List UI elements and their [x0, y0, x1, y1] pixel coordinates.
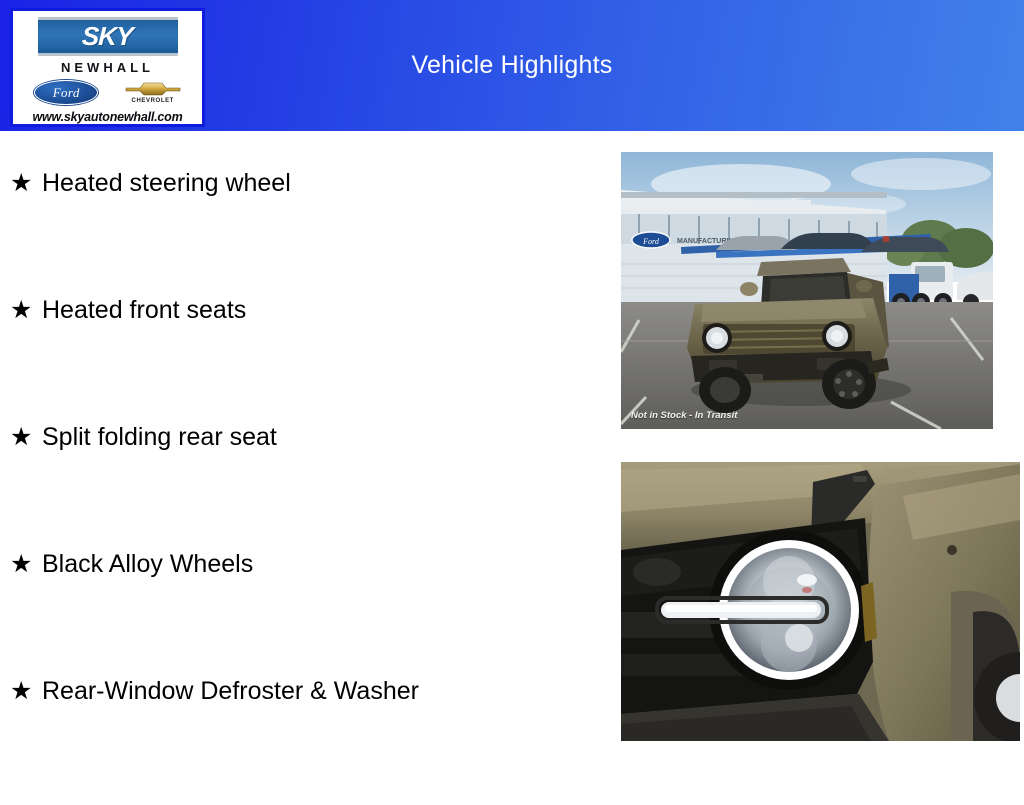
chevrolet-bowtie-icon — [125, 81, 181, 97]
star-bullet-icon: ★ — [10, 679, 42, 704]
star-bullet-icon: ★ — [10, 298, 42, 323]
dealer-logo[interactable]: SKY NEWHALL Ford CHEVROLET — [10, 8, 205, 127]
chevrolet-logo-icon: CHEVROLET — [125, 81, 181, 104]
list-item: ★ Black Alloy Wheels — [10, 551, 600, 678]
feature-label: Heated front seats — [42, 297, 246, 325]
photo-caption: Not in Stock - In Transit — [631, 410, 737, 421]
sky-brand-badge: SKY — [38, 17, 178, 56]
star-bullet-icon: ★ — [10, 552, 42, 577]
feature-label: Split folding rear seat — [42, 424, 277, 452]
ford-logo-text: Ford — [53, 85, 80, 101]
star-bullet-icon: ★ — [10, 425, 42, 450]
feature-label: Black Alloy Wheels — [42, 551, 253, 579]
vehicle-highlights-list: ★ Heated steering wheel ★ Heated front s… — [10, 170, 600, 805]
svg-text:Ford: Ford — [642, 237, 660, 246]
franchise-logo-row: Ford CHEVROLET — [13, 80, 202, 105]
dealer-location-text: NEWHALL — [61, 60, 154, 75]
feature-label: Rear-Window Defroster & Washer — [42, 678, 419, 706]
vehicle-exterior-photo[interactable]: Ford MANUFACTURING — [621, 152, 993, 429]
list-item: ★ Heated front seats — [10, 297, 600, 424]
list-item: ★ Heated steering wheel — [10, 170, 600, 297]
chevrolet-logo-text: CHEVROLET — [132, 98, 174, 104]
feature-label: Heated steering wheel — [42, 170, 291, 198]
list-item: ★ Split folding rear seat — [10, 424, 600, 551]
sky-brand-text: SKY — [81, 21, 133, 52]
list-item: ★ Rear-Window Defroster & Washer — [10, 678, 600, 805]
star-bullet-icon: ★ — [10, 171, 42, 196]
dealer-website-text: www.skyautonewhall.com — [32, 110, 182, 124]
ford-logo-icon: Ford — [34, 80, 98, 105]
vehicle-closeup-photo[interactable] — [621, 462, 1020, 741]
